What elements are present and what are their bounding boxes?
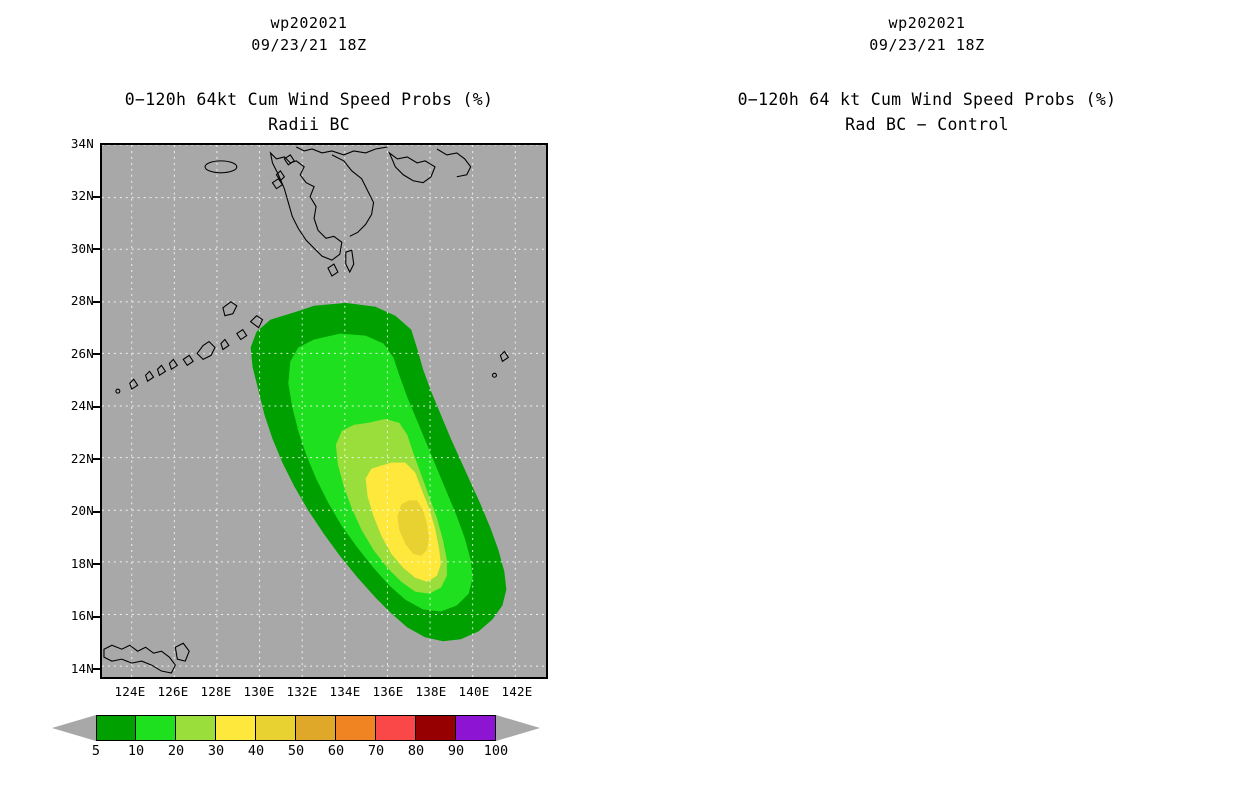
right-subtitle-block: 0−120h 64 kt Cum Wind Speed Probs (%) Ra…	[618, 87, 1236, 137]
map-left	[100, 143, 548, 679]
y-tick-18n: 18N	[48, 558, 94, 570]
left-storm-id: wp202021	[0, 12, 618, 34]
right-title-main: 0−120h 64 kt Cum Wind Speed Probs (%)	[618, 87, 1236, 112]
y-tick-14n: 14N	[48, 663, 94, 675]
left-datetime: 09/23/21 18Z	[0, 34, 618, 56]
y-tick-mark	[93, 616, 100, 618]
colorbar-under-arrow-left	[52, 715, 96, 741]
left-subtitle-block: 0−120h 64kt Cum Wind Speed Probs (%) Rad…	[0, 87, 618, 137]
colorbar-over-arrow-left	[496, 715, 540, 741]
y-tick-mark	[93, 353, 100, 355]
y-tick-20n: 20N	[48, 505, 94, 517]
y-tick-26n: 26N	[48, 348, 94, 360]
wind-probability-figure: wp202021 09/23/21 18Z 0−120h 64kt Cum Wi…	[0, 0, 1236, 800]
y-tick-30n: 30N	[48, 243, 94, 255]
y-tick-mark	[93, 248, 100, 250]
right-title-sub: Rad BC − Control	[618, 112, 1236, 137]
right-storm-id: wp202021	[618, 12, 1236, 34]
y-tick-32n: 32N	[48, 190, 94, 202]
colorbar-tick-label: 100	[473, 744, 519, 758]
x-tick-142e: 142E	[487, 686, 547, 698]
y-tick-mark	[93, 511, 100, 513]
panel-rad-bc-minus-control: wp202021 09/23/21 18Z 0−120h 64 kt Cum W…	[618, 0, 1236, 800]
right-datetime: 09/23/21 18Z	[618, 34, 1236, 56]
left-title-sub: Radii BC	[0, 112, 618, 137]
y-tick-22n: 22N	[48, 453, 94, 465]
y-tick-mark	[93, 668, 100, 670]
y-tick-mark	[93, 563, 100, 565]
y-tick-mark	[93, 406, 100, 408]
y-tick-mark	[93, 301, 100, 303]
y-tick-24n: 24N	[48, 400, 94, 412]
right-title-block: wp202021 09/23/21 18Z	[618, 12, 1236, 56]
coastline-overlay-left	[102, 145, 546, 677]
colorbar-left-frame	[96, 715, 496, 741]
y-tick-34n: 34N	[48, 138, 94, 150]
left-title-block: wp202021 09/23/21 18Z	[0, 12, 618, 56]
y-tick-28n: 28N	[48, 295, 94, 307]
y-tick-mark	[93, 458, 100, 460]
panel-radii-bc: wp202021 09/23/21 18Z 0−120h 64kt Cum Wi…	[0, 0, 618, 800]
left-title-main: 0−120h 64kt Cum Wind Speed Probs (%)	[0, 87, 618, 112]
y-tick-16n: 16N	[48, 610, 94, 622]
y-tick-mark	[93, 196, 100, 198]
